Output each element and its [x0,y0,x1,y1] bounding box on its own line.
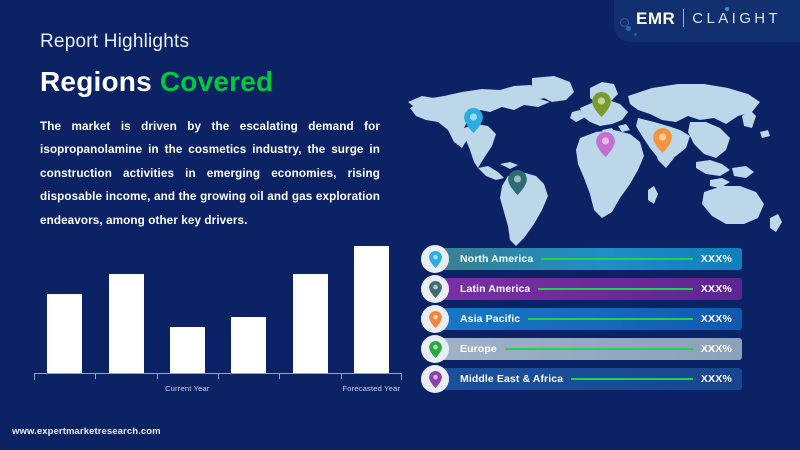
bar-chart-axis-cap [401,373,402,380]
legend-row[interactable]: Latin AmericaXXX% [430,278,742,300]
bar-chart-bar [47,294,82,373]
report-kicker: Report Highlights [40,31,189,53]
legend-row[interactable]: EuropeXXX% [430,338,742,360]
map-pin-icon [421,275,449,303]
map-pin-northern-europe[interactable] [592,92,611,117]
bar-chart: Current YearForecasted Year [34,232,402,397]
legend-region-value: XXX% [701,283,732,295]
legend-connector-line [541,258,693,260]
world-map [404,72,796,248]
bar-chart-tick [341,373,342,379]
bar-chart-plot-area: Current YearForecasted Year [34,233,402,385]
logo-claight-text: CLAIGHT [692,11,781,26]
bar-chart-bar [170,327,205,373]
footer-url: www.expertmarketresearch.com [12,426,161,437]
map-pin-icon [421,335,449,363]
legend-region-value: XXX% [701,253,732,265]
legend-region-label: Europe [460,343,497,355]
legend-connector-line [538,288,692,290]
logo-dot-decoration [626,26,631,31]
map-pin-middle-east-north-africa[interactable] [596,132,615,157]
brand-logo[interactable]: EMR CLAIGHT [614,0,800,42]
legend-region-label: Middle East & Africa [460,373,563,385]
logo-dot-decoration [634,33,637,36]
map-pin-south-america[interactable] [508,170,527,195]
legend-region-label: Latin America [460,283,530,295]
bar-chart-bar [354,246,389,373]
bar-chart-bar [109,274,144,373]
bar-chart-tick [279,373,280,379]
bar-chart-bar [231,317,266,373]
legend-region-value: XXX% [701,343,732,355]
logo-divider [683,9,684,27]
legend-connector-line [528,318,693,320]
page-title-accent: Covered [160,66,273,97]
map-pin-asia[interactable] [653,128,672,153]
map-pin-icon [421,305,449,333]
legend-region-value: XXX% [701,373,732,385]
legend-connector-line [505,348,693,350]
legend-region-label: North America [460,253,533,265]
bar-chart-tick [218,373,219,379]
region-legend: North AmericaXXX%Latin AmericaXXX%Asia P… [430,248,742,390]
legend-region-value: XXX% [701,313,732,325]
bar-chart-bar [293,274,328,373]
legend-row[interactable]: Middle East & AfricaXXX% [430,368,742,390]
legend-connector-line [571,378,693,380]
bar-chart-x-label: Forecasted Year [343,384,401,393]
map-pin-north-america[interactable] [464,108,483,133]
legend-region-label: Asia Pacific [460,313,520,325]
map-pin-icon [421,245,449,273]
bar-chart-axis-cap [34,373,35,380]
bar-chart-tick [157,373,158,379]
legend-row[interactable]: North AmericaXXX% [430,248,742,270]
legend-row[interactable]: Asia PacificXXX% [430,308,742,330]
bar-chart-tick [95,373,96,379]
map-pin-icon [421,365,449,393]
page-title-plain: Regions [40,66,160,97]
description-text: The market is driven by the escalating d… [40,115,380,232]
page-title: Regions Covered [40,66,273,98]
logo-emr-text: EMR [636,10,675,27]
bar-chart-x-label: Current Year [165,384,210,393]
